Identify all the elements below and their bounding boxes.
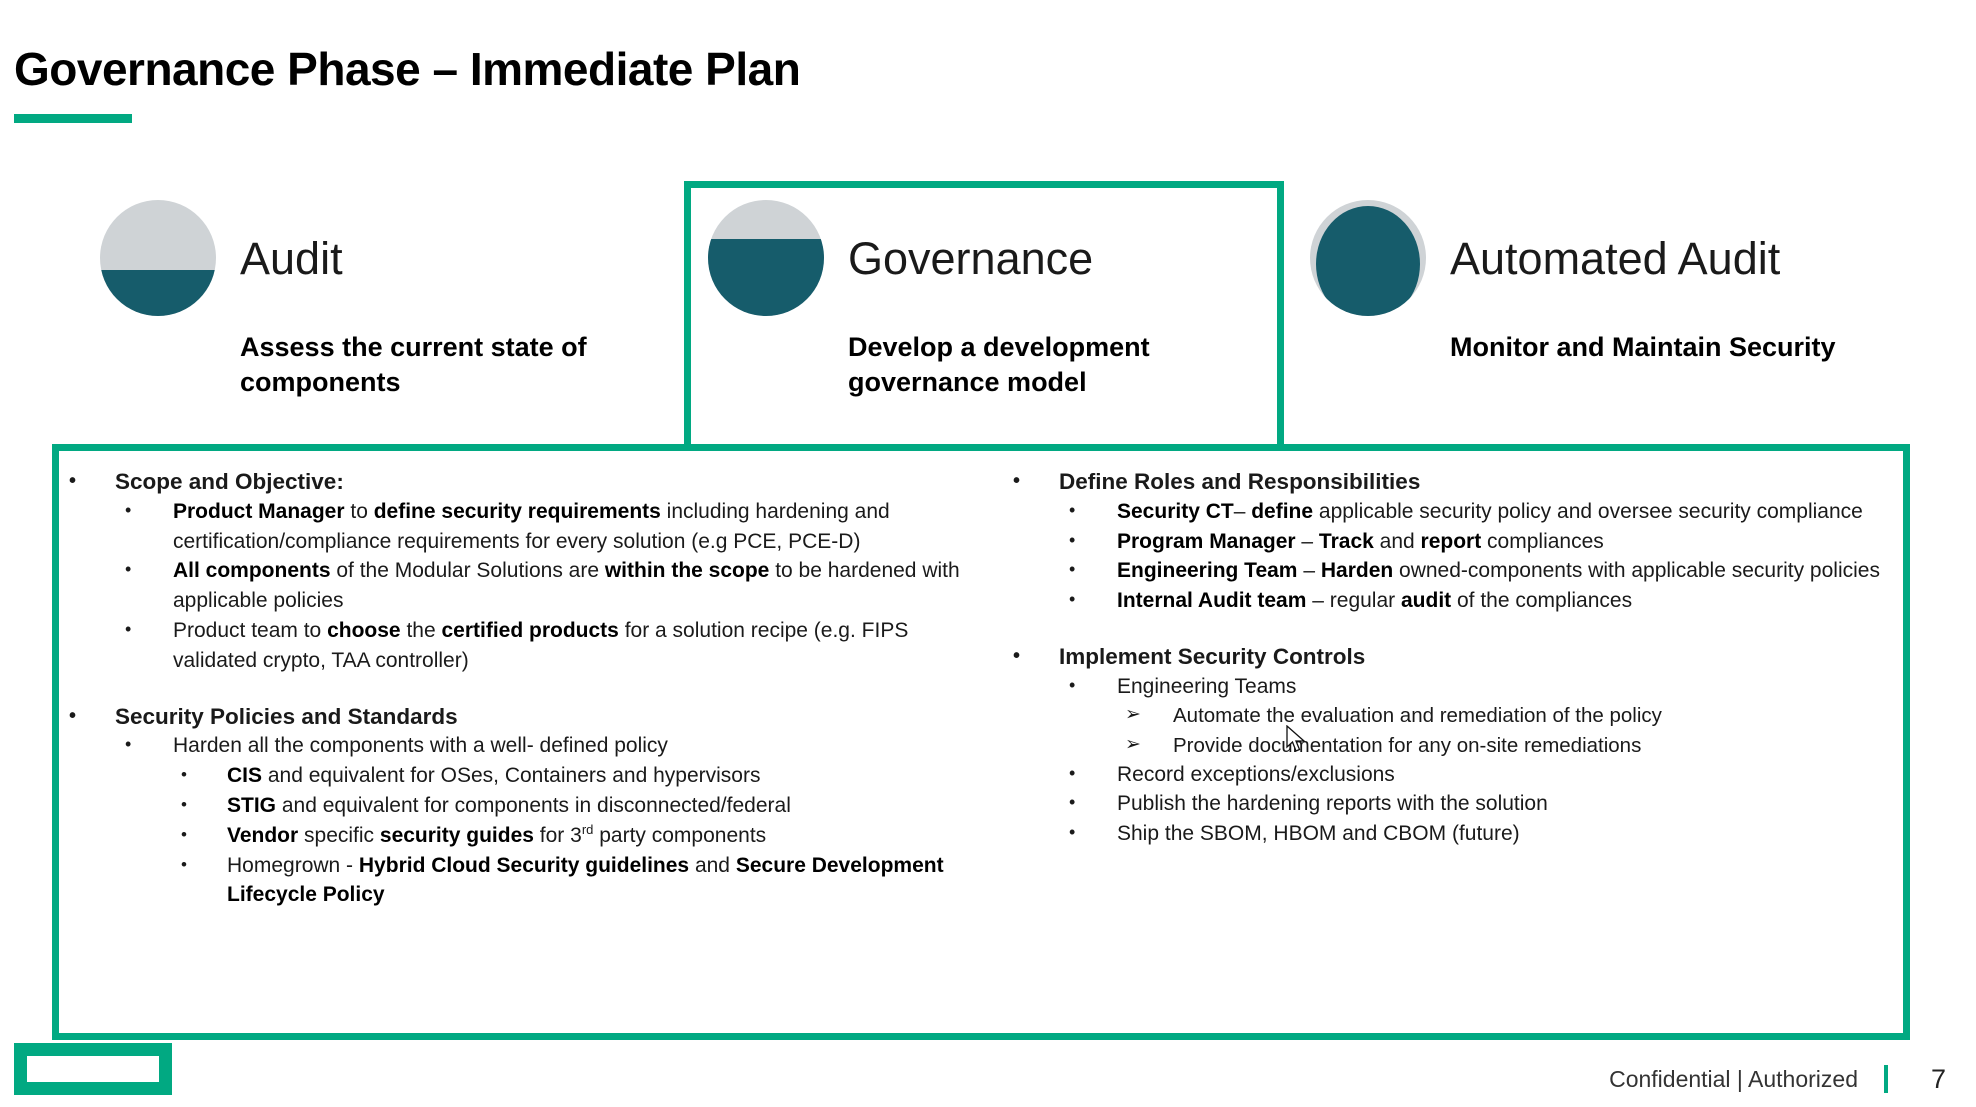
- bullet-dot-icon: •: [69, 467, 76, 495]
- phase-automated-audit[interactable]: Automated Audit Monitor and Maintain Sec…: [1310, 196, 1950, 365]
- progress-circle-icon: [1310, 200, 1426, 316]
- content-columns: • Scope and Objective: • Product Manager…: [59, 451, 1903, 1033]
- plain: and: [689, 854, 736, 877]
- right-bullet-list: • Define Roles and Responsibilities • Se…: [1013, 467, 1885, 849]
- plain: and equivalent for components in disconn…: [276, 794, 791, 817]
- left-section1-items: • Product Manager to define security req…: [125, 497, 963, 676]
- bullet-dot-icon: •: [1069, 789, 1075, 817]
- left-section2-items: • Harden all the components with a well-…: [125, 731, 963, 910]
- list-item-text: Engineering Teams: [1117, 672, 1885, 702]
- right-column: • Define Roles and Responsibilities • Se…: [981, 451, 1903, 1033]
- list-item-text: Security CT– define applicable security …: [1117, 497, 1885, 527]
- confidentiality-notice: Confidential | Authorized: [1609, 1066, 1858, 1093]
- list-item: • CIS and equivalent for OSes, Container…: [181, 761, 963, 791]
- list-item: • Internal Audit team – regular audit of…: [1069, 586, 1885, 616]
- emph: certified products: [441, 619, 618, 642]
- list-item-text: Internal Audit team – regular audit of t…: [1117, 586, 1885, 616]
- emph: Engineering Team: [1117, 559, 1297, 582]
- bullet-dot-icon: •: [1069, 819, 1075, 847]
- right-section1-items: • Security CT– define applicable securit…: [1069, 497, 1885, 616]
- plain: and equivalent for OSes, Containers and …: [262, 764, 760, 787]
- phase-header-row: Audit Assess the current state of compon…: [0, 196, 1976, 436]
- bullet-dot-icon: •: [125, 731, 131, 759]
- list-item: ➢ Provide documentation for any on-site …: [1125, 731, 1885, 760]
- bullet-dot-icon: •: [125, 497, 131, 525]
- progress-circle-fill: [100, 270, 216, 316]
- emph: define: [1251, 500, 1313, 523]
- list-item-text: Publish the hardening reports with the s…: [1117, 789, 1885, 819]
- list-item: ➢ Automate the evaluation and remediatio…: [1125, 701, 1885, 730]
- list-item-text: Automate the evaluation and remediation …: [1173, 701, 1885, 730]
- plain: – regular: [1306, 589, 1401, 612]
- bullet-dot-icon: •: [1069, 760, 1075, 788]
- bullet-dot-icon: •: [125, 616, 131, 644]
- left-section1-heading: Scope and Objective:: [115, 467, 963, 497]
- emph: security guides: [380, 824, 534, 847]
- plain: –: [1297, 559, 1320, 582]
- bullet-dot-icon: •: [69, 702, 76, 730]
- emph: Track: [1319, 530, 1374, 553]
- list-item-text: Engineering Team – Harden owned-componen…: [1117, 556, 1885, 586]
- bullet-dot-icon: •: [1069, 527, 1075, 555]
- plain: to: [345, 500, 374, 523]
- bullet-dot-icon: •: [1013, 642, 1020, 670]
- plain: –: [1296, 530, 1319, 553]
- emph: within the scope: [605, 559, 770, 582]
- bullet-dot-icon: •: [1013, 467, 1020, 495]
- list-item: • Record exceptions/exclusions: [1069, 760, 1885, 790]
- plain: –: [1234, 500, 1252, 523]
- emph: All components: [173, 559, 331, 582]
- right-section2-heading: Implement Security Controls: [1059, 642, 1885, 672]
- emph: report: [1421, 530, 1482, 553]
- bullet-dot-icon: •: [1069, 586, 1075, 614]
- list-item-text: Vendor specific security guides for 3rd …: [227, 821, 963, 851]
- phase-audit[interactable]: Audit Assess the current state of compon…: [100, 196, 700, 399]
- phase-audit-head: Audit: [100, 196, 700, 320]
- phase-audit-name: Audit: [240, 236, 343, 281]
- list-item-text: Program Manager – Track and report compl…: [1117, 527, 1885, 557]
- list-item: • Ship the SBOM, HBOM and CBOM (future): [1069, 819, 1885, 849]
- emph: Product Manager: [173, 500, 345, 523]
- right-section2-subitems: ➢ Automate the evaluation and remediatio…: [1125, 701, 1885, 759]
- list-item: • Publish the hardening reports with the…: [1069, 789, 1885, 819]
- emph: Security CT: [1117, 500, 1234, 523]
- right-section2-items: • Engineering Teams ➢ Automate the evalu…: [1069, 672, 1885, 849]
- list-item-text: Harden all the components with a well- d…: [173, 731, 963, 761]
- plain: of the Modular Solutions are: [331, 559, 605, 582]
- plain: of the compliances: [1451, 589, 1632, 612]
- bullet-dot-icon: •: [181, 821, 187, 848]
- plain: Homegrown -: [227, 854, 359, 877]
- emph: Harden: [1321, 559, 1393, 582]
- progress-circle-icon: [100, 200, 216, 316]
- phase-audit-subtitle: Assess the current state of components: [240, 330, 660, 399]
- emph: audit: [1401, 589, 1451, 612]
- bullet-dot-icon: •: [181, 761, 187, 788]
- left-section2-subitems: • CIS and equivalent for OSes, Container…: [181, 761, 963, 910]
- list-item: • Product team to choose the certified p…: [125, 616, 963, 676]
- bullet-dot-icon: •: [181, 851, 187, 878]
- hpe-logo-icon: [14, 1043, 172, 1095]
- emph: STIG: [227, 794, 276, 817]
- plain: owned-components with applicable securit…: [1393, 559, 1880, 582]
- content-box: • Scope and Objective: • Product Manager…: [52, 444, 1910, 1040]
- progress-circle-fill: [708, 239, 824, 316]
- list-item-heading: • Scope and Objective:: [69, 467, 963, 497]
- left-column: • Scope and Objective: • Product Manager…: [59, 451, 981, 1033]
- phase-governance-name: Governance: [848, 236, 1093, 281]
- list-item-text: Provide documentation for any on-site re…: [1173, 731, 1885, 760]
- list-item-text: Ship the SBOM, HBOM and CBOM (future): [1117, 819, 1885, 849]
- title-underline-rule: [14, 114, 132, 123]
- plain: specific: [298, 824, 380, 847]
- list-item: • Program Manager – Track and report com…: [1069, 527, 1885, 557]
- phase-governance-head: Governance: [708, 196, 1288, 320]
- section-spacer: [1013, 616, 1885, 642]
- bullet-arrow-icon: ➢: [1125, 731, 1141, 759]
- list-item: • Security CT– define applicable securit…: [1069, 497, 1885, 527]
- emph: choose: [327, 619, 401, 642]
- plain: compliances: [1481, 530, 1604, 553]
- bullet-dot-icon: •: [1069, 556, 1075, 584]
- list-item-text: Product Manager to define security requi…: [173, 497, 963, 557]
- emph: Internal Audit team: [1117, 589, 1306, 612]
- slide-root: Governance Phase – Immediate Plan Audit …: [0, 0, 1976, 1107]
- bullet-dot-icon: •: [1069, 672, 1075, 700]
- phase-automated-audit-subtitle: Monitor and Maintain Security: [1450, 330, 1910, 365]
- bullet-dot-icon: •: [1069, 497, 1075, 525]
- right-section1-heading: Define Roles and Responsibilities: [1059, 467, 1885, 497]
- progress-circle-icon: [708, 200, 824, 316]
- phase-governance[interactable]: Governance Develop a development governa…: [708, 196, 1288, 399]
- plain: the: [401, 619, 442, 642]
- plain: applicable security policy and oversee s…: [1313, 500, 1863, 523]
- plain: and: [1374, 530, 1421, 553]
- left-bullet-list: • Scope and Objective: • Product Manager…: [69, 467, 963, 910]
- list-item: • All components of the Modular Solution…: [125, 556, 963, 616]
- section-spacer: [69, 676, 963, 702]
- emph: Vendor: [227, 824, 298, 847]
- list-item-text: CIS and equivalent for OSes, Containers …: [227, 761, 963, 791]
- list-item: • Harden all the components with a well-…: [125, 731, 963, 761]
- bullet-dot-icon: •: [125, 556, 131, 584]
- list-item-heading: • Define Roles and Responsibilities: [1013, 467, 1885, 497]
- list-item: • Engineering Team – Harden owned-compon…: [1069, 556, 1885, 586]
- list-item-heading: • Security Policies and Standards: [69, 702, 963, 732]
- emph: Program Manager: [1117, 530, 1296, 553]
- list-item: • Homegrown - Hybrid Cloud Security guid…: [181, 851, 963, 911]
- phase-governance-subtitle: Develop a development governance model: [848, 330, 1268, 399]
- plain: party components: [593, 824, 766, 847]
- ordinal-suffix: rd: [582, 822, 594, 837]
- list-item-heading: • Implement Security Controls: [1013, 642, 1885, 672]
- plain: Product team to: [173, 619, 327, 642]
- plain: for 3: [534, 824, 582, 847]
- list-item-text: STIG and equivalent for components in di…: [227, 791, 963, 821]
- slide-footer: Confidential | Authorized 7: [0, 1037, 1976, 1107]
- footer-separator: [1884, 1065, 1888, 1093]
- emph: Hybrid Cloud Security guidelines: [359, 854, 689, 877]
- progress-circle-fill: [1316, 206, 1420, 316]
- list-item-text: Homegrown - Hybrid Cloud Security guidel…: [227, 851, 963, 911]
- bullet-arrow-icon: ➢: [1125, 701, 1141, 729]
- list-item: • Vendor specific security guides for 3r…: [181, 821, 963, 851]
- list-item: • STIG and equivalent for components in …: [181, 791, 963, 821]
- list-item: • Product Manager to define security req…: [125, 497, 963, 557]
- emph: CIS: [227, 764, 262, 787]
- list-item: • Engineering Teams: [1069, 672, 1885, 702]
- phase-automated-audit-name: Automated Audit: [1450, 236, 1780, 281]
- list-item-text: All components of the Modular Solutions …: [173, 556, 963, 616]
- list-item-text: Record exceptions/exclusions: [1117, 760, 1885, 790]
- left-section2-heading: Security Policies and Standards: [115, 702, 963, 732]
- page-number: 7: [1931, 1064, 1946, 1095]
- list-item-text: Product team to choose the certified pro…: [173, 616, 963, 676]
- phase-automated-audit-head: Automated Audit: [1310, 196, 1950, 320]
- page-title: Governance Phase – Immediate Plan: [14, 42, 800, 96]
- bullet-dot-icon: •: [181, 791, 187, 818]
- emph: define security requirements: [374, 500, 661, 523]
